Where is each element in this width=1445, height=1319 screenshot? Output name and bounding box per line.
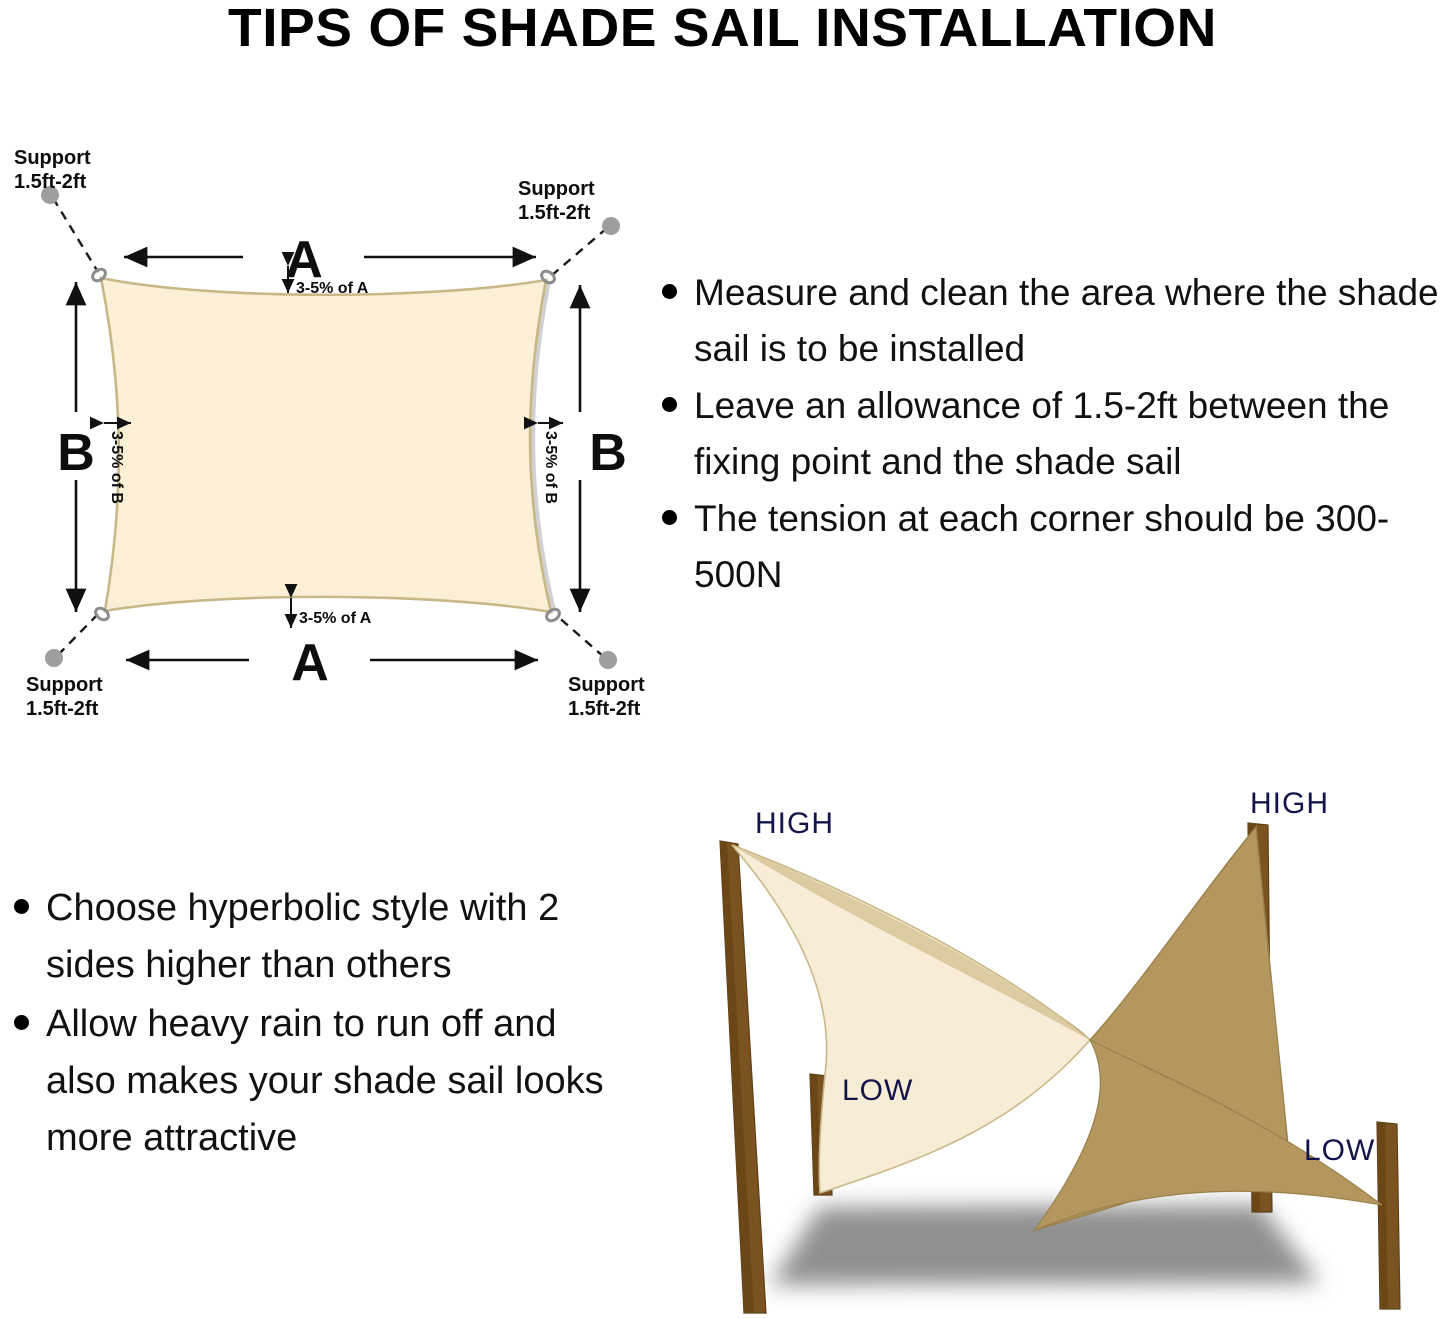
support-label-top-left-line2: 1.5ft-2ft <box>14 171 87 193</box>
dimension-label-B-right: B <box>589 424 627 482</box>
support-label-top-left-line1: Support <box>14 150 91 169</box>
tolerance-label-left: 3-5% of B <box>108 431 125 504</box>
tolerance-label-top: 3-5% of A <box>296 280 369 297</box>
list-item: Allow heavy rain to run off and also mak… <box>0 996 620 1167</box>
leader-bottom-left <box>58 612 100 655</box>
label-high-right: HIGH <box>1250 787 1329 820</box>
support-label-bottom-right-line2: 1.5ft-2ft <box>568 698 641 720</box>
hyperbolic-diagram-svg: HIGH HIGH LOW LOW <box>620 775 1445 1319</box>
hyperbolic-tips-list: Choose hyperbolic style with 2 sides hig… <box>0 880 620 1167</box>
rect-diagram-svg: A 3-5% of A A 3-5% of A B 3-5% of B <box>0 150 660 750</box>
list-item: The tension at each corner should be 300… <box>648 491 1445 602</box>
label-low-right: LOW <box>1304 1134 1375 1167</box>
list-item: Choose hyperbolic style with 2 sides hig… <box>0 880 620 994</box>
sail-surface-cream <box>732 845 1090 1193</box>
dimension-label-B-left: B <box>57 424 95 482</box>
rectangular-sail-diagram: A 3-5% of A A 3-5% of A B 3-5% of B <box>0 150 660 750</box>
support-label-bottom-left-line2: 1.5ft-2ft <box>26 698 99 720</box>
support-label-top-right-line2: 1.5ft-2ft <box>518 202 591 224</box>
tolerance-label-bottom: 3-5% of A <box>299 610 372 627</box>
leader-top-left <box>53 198 98 272</box>
label-high-left: HIGH <box>755 807 834 840</box>
support-dot-bottom-right <box>599 651 617 669</box>
page-title: TIPS OF SHADE SAIL INSTALLATION <box>0 0 1445 58</box>
support-dot-top-right <box>602 217 620 235</box>
list-item: Measure and clean the area where the sha… <box>648 265 1445 376</box>
installation-tips-list: Measure and clean the area where the sha… <box>648 265 1445 602</box>
sail-body <box>101 278 551 612</box>
hyperbolic-tips-panel: Choose hyperbolic style with 2 sides hig… <box>0 880 620 1210</box>
leader-top-right <box>551 228 607 276</box>
leader-bottom-right <box>556 615 604 657</box>
tolerance-label-right: 3-5% of B <box>542 431 559 504</box>
support-label-bottom-right-line1: Support <box>568 674 645 696</box>
hyperbolic-sail-illustration: HIGH HIGH LOW LOW <box>620 775 1445 1319</box>
support-label-bottom-left-line1: Support <box>26 674 103 696</box>
dimension-label-A-bottom: A <box>291 634 329 692</box>
installation-tips-panel: Measure and clean the area where the sha… <box>648 265 1445 655</box>
list-item: Leave an allowance of 1.5-2ft between th… <box>648 378 1445 489</box>
support-label-top-right-line1: Support <box>518 178 595 200</box>
support-dot-bottom-left <box>45 649 63 667</box>
label-low-left: LOW <box>842 1074 913 1107</box>
